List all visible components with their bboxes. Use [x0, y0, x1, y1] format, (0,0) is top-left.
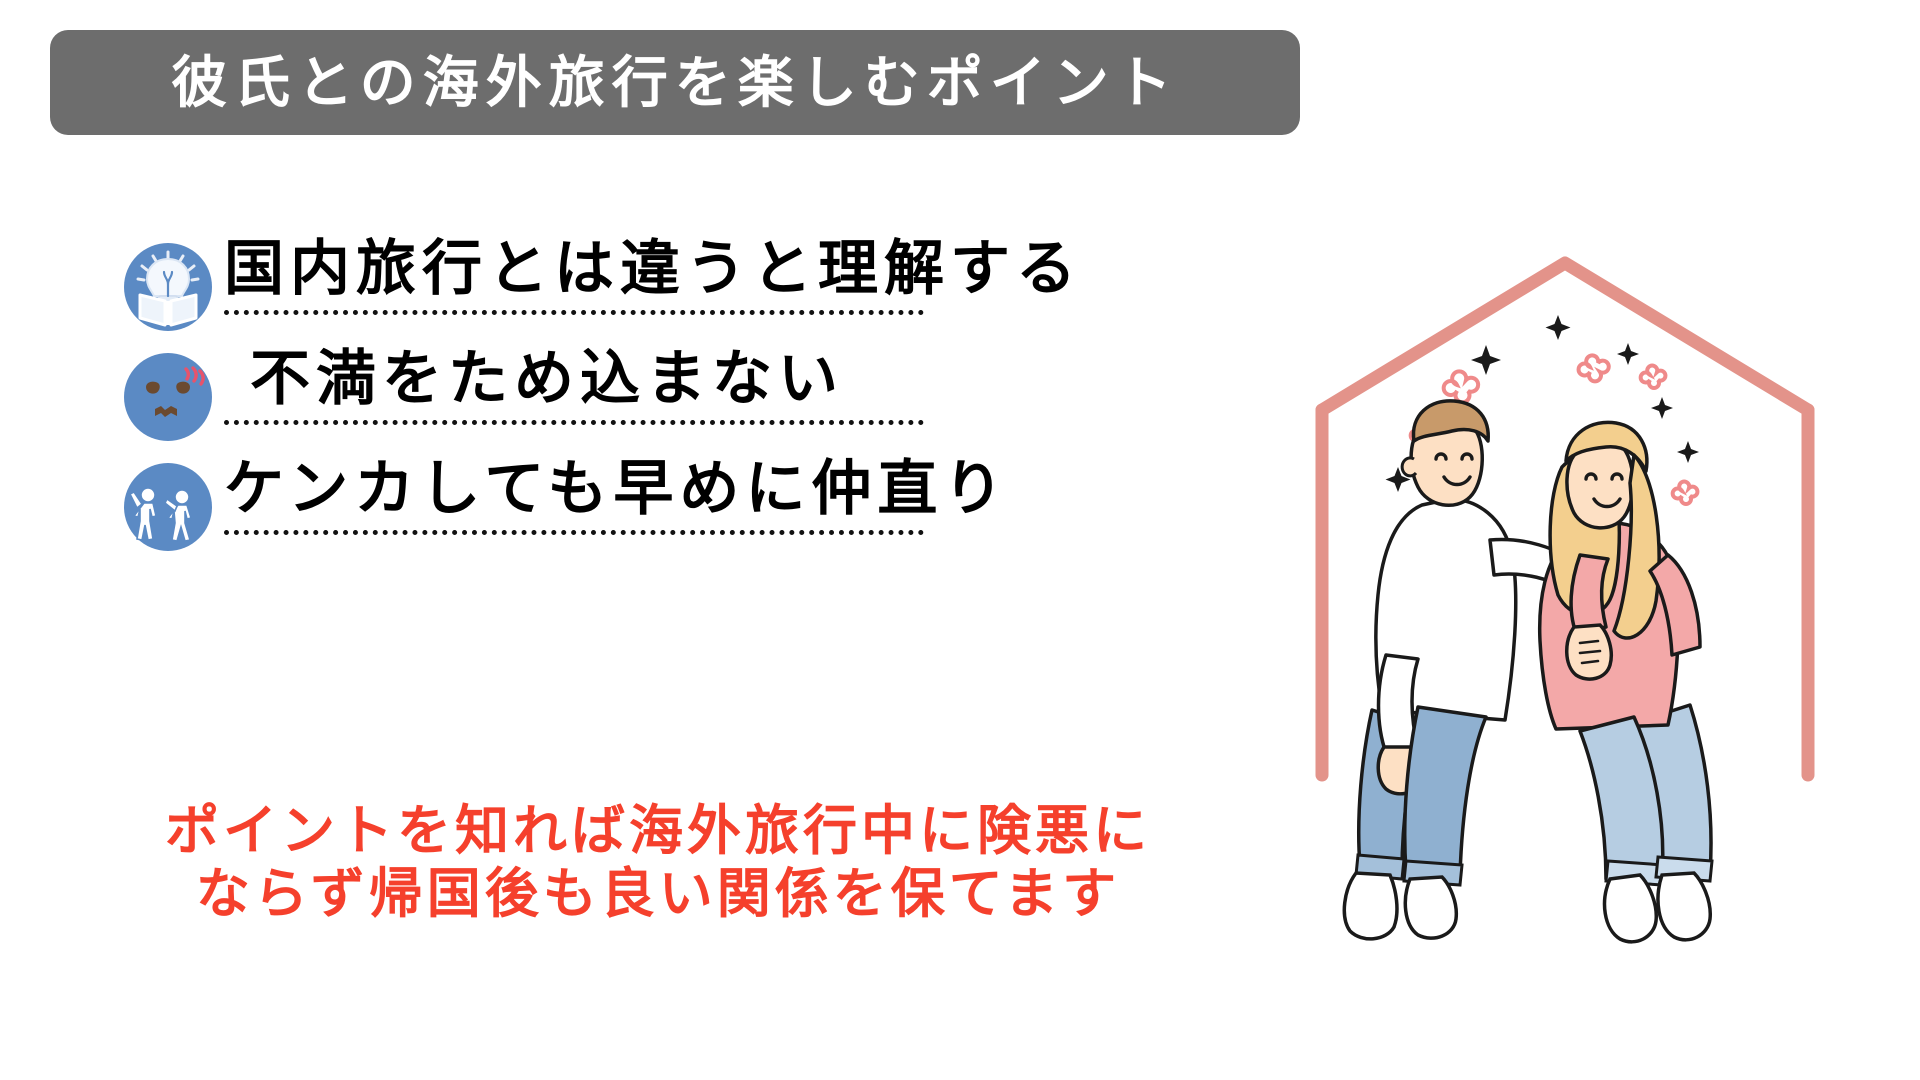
point-label: 不満をため込まない	[224, 347, 924, 412]
point-underline	[224, 414, 924, 425]
point-text-block: 国内旅行とは違うと理解する	[224, 235, 1082, 315]
point-text-block: ケンカしても早めに仲直り	[224, 455, 1009, 535]
angry-face-icon	[120, 349, 216, 445]
couple-illustration	[1290, 255, 1860, 945]
two-people-fighting-icon	[120, 459, 216, 555]
woman-figure	[1540, 422, 1712, 941]
point-row: ケンカしても早めに仲直り	[120, 455, 1300, 565]
point-row: 国内旅行とは違うと理解する	[120, 235, 1300, 345]
point-row: 不満をため込まない	[120, 345, 1300, 455]
page-title: 彼氏との海外旅行を楽しむポイント	[171, 55, 1178, 111]
conclusion-line-1: ポイントを知れば海外旅行中に険悪に	[128, 800, 1188, 863]
points-list: 国内旅行とは違うと理解する 不満	[120, 235, 1300, 565]
point-label: 国内旅行とは違うと理解する	[224, 237, 1082, 302]
conclusion-line-2: ならず帰国後も良い関係を保てます	[128, 863, 1188, 926]
slide-canvas: 彼氏との海外旅行を楽しむポイント	[0, 0, 1920, 1080]
conclusion-text: ポイントを知れば海外旅行中に険悪に ならず帰国後も良い関係を保てます	[128, 800, 1188, 926]
point-label: ケンカしても早めに仲直り	[224, 457, 1009, 522]
point-underline	[224, 304, 924, 315]
lightbulb-book-icon	[120, 239, 216, 335]
point-text-block: 不満をため込まない	[224, 345, 924, 425]
point-underline	[224, 524, 924, 535]
header-banner: 彼氏との海外旅行を楽しむポイント	[50, 30, 1300, 135]
